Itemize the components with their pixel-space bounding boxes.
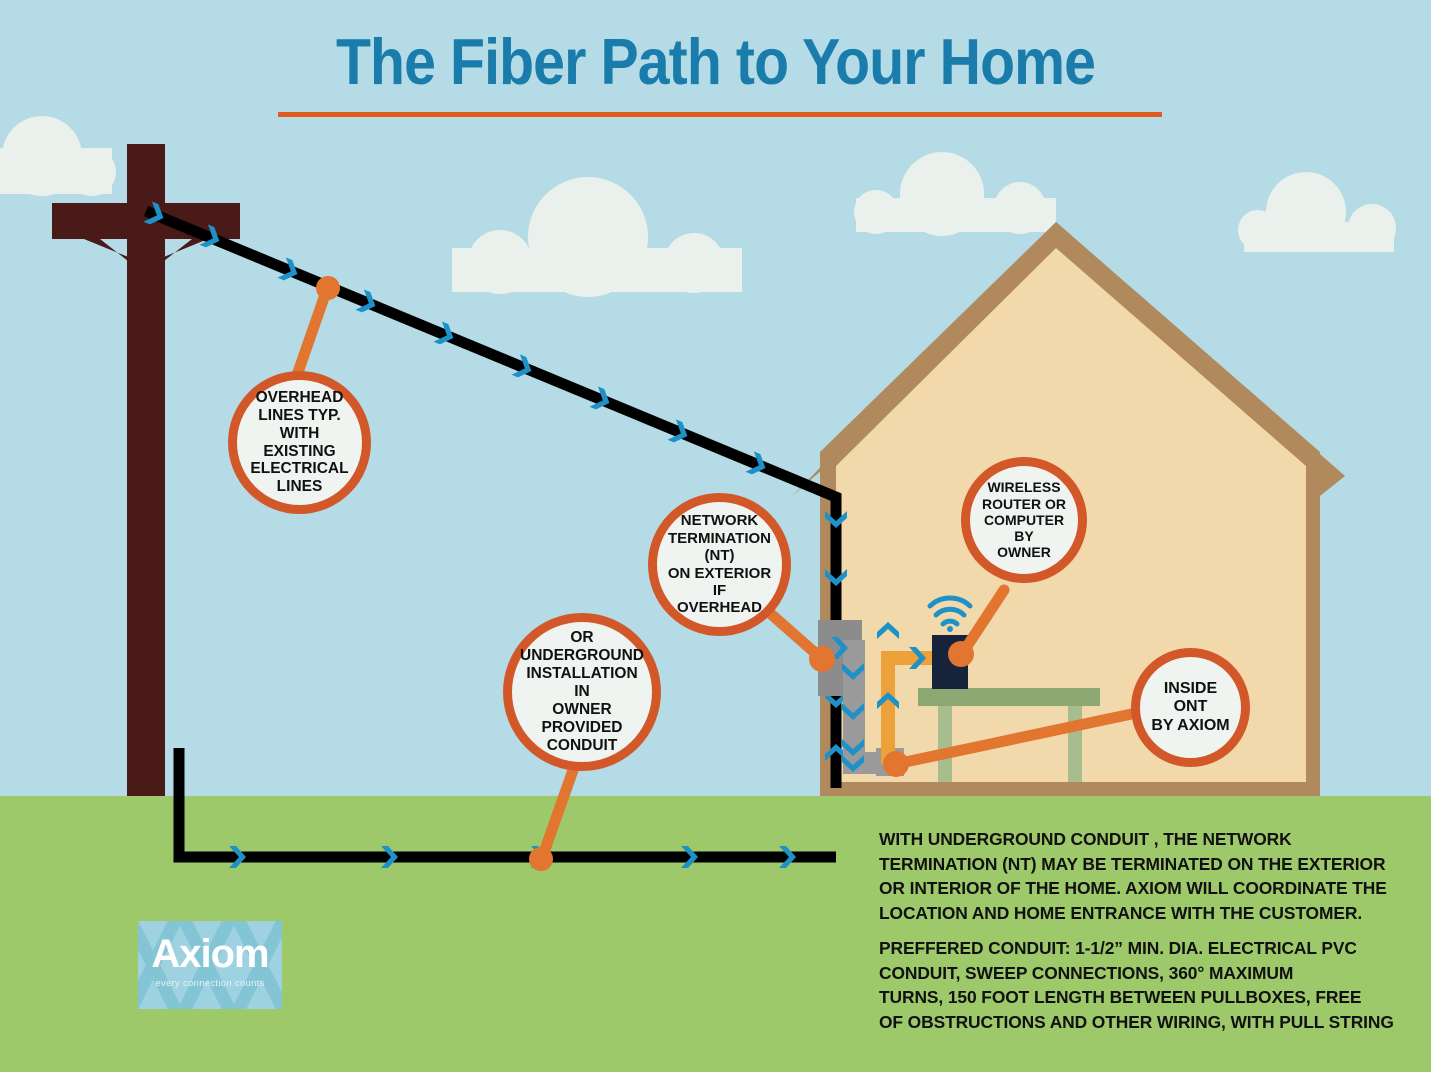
infographic-canvas: The Fiber Path to Your Home OVERHEAD LIN… bbox=[0, 0, 1431, 1072]
callout-overhead-lines[interactable]: OVERHEAD LINES TYP. WITH EXISTING ELECTR… bbox=[228, 371, 371, 514]
page-title: The Fiber Path to Your Home bbox=[86, 24, 1345, 99]
callout-underground-conduit-label: OR UNDERGROUND INSTALLATION IN OWNER PRO… bbox=[512, 629, 652, 755]
note-underground-conduit: WITH UNDERGROUND CONDUIT , THE NETWORK T… bbox=[879, 827, 1409, 926]
logo-tagline: every connection counts bbox=[138, 978, 282, 989]
logo-brand: Axiom bbox=[138, 934, 282, 974]
axiom-logo: Axiom every connection counts bbox=[138, 921, 282, 1009]
callout-wireless-router[interactable]: WIRELESS ROUTER OR COMPUTER BY OWNER bbox=[961, 457, 1087, 583]
callout-wireless-router-label: WIRELESS ROUTER OR COMPUTER BY OWNER bbox=[970, 479, 1078, 560]
callout-network-termination[interactable]: NETWORK TERMINATION (NT) ON EXTERIOR IF … bbox=[648, 493, 791, 636]
title-underline bbox=[278, 112, 1162, 117]
callout-inside-ont[interactable]: INSIDE ONT BY AXIOM bbox=[1131, 648, 1250, 767]
callout-overhead-lines-label: OVERHEAD LINES TYP. WITH EXISTING ELECTR… bbox=[237, 389, 362, 497]
callout-underground-conduit[interactable]: OR UNDERGROUND INSTALLATION IN OWNER PRO… bbox=[503, 613, 661, 771]
note-preferred-conduit: PREFFERED CONDUIT: 1-1/2” MIN. DIA. ELEC… bbox=[879, 936, 1409, 1035]
callout-network-termination-label: NETWORK TERMINATION (NT) ON EXTERIOR IF … bbox=[657, 512, 782, 616]
callout-inside-ont-label: INSIDE ONT BY AXIOM bbox=[1145, 680, 1235, 736]
